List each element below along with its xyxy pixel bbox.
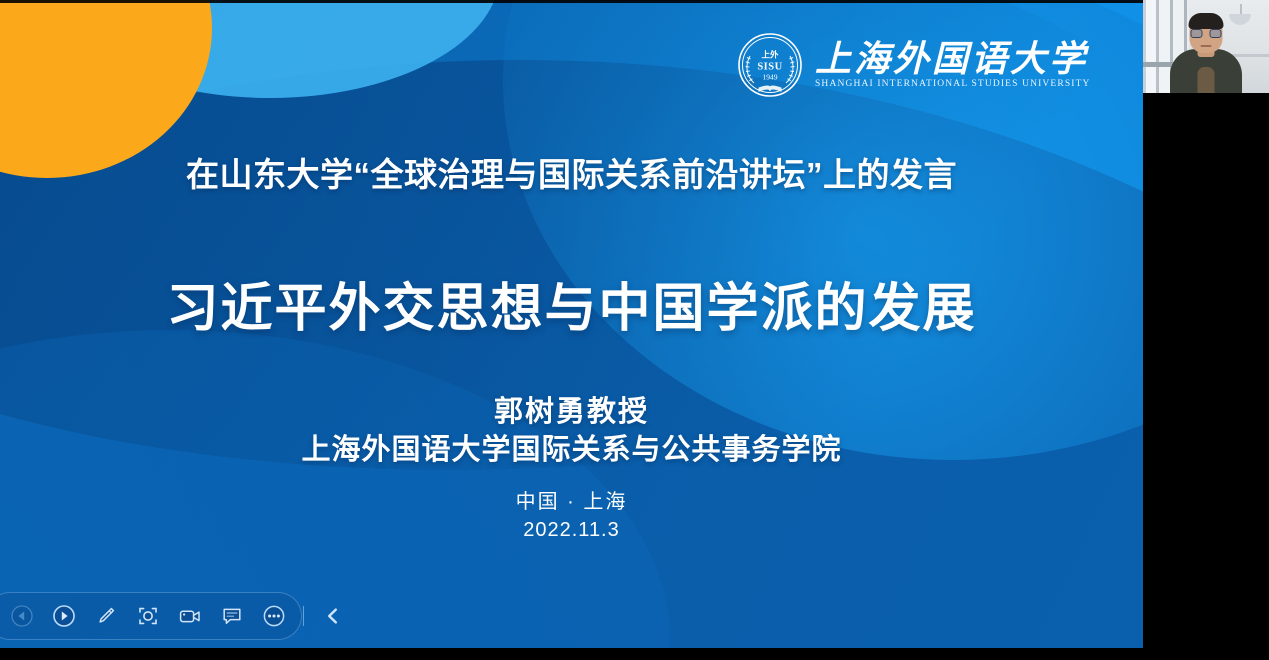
webcam-person-glasses [1191,28,1222,37]
webcam-person-mouth [1201,45,1212,47]
webcam-glasses-lens-left [1191,29,1203,38]
university-logo-text: 上海外国语大学 SHANGHAI INTERNATIONAL STUDIES U… [815,41,1091,89]
bottom-letterbox [0,648,1143,660]
next-slide-button[interactable] [49,601,79,631]
presentation-toolbar[interactable] [0,592,302,640]
presenter-webcam-thumbnail[interactable] [1143,0,1269,93]
webcam-glasses-lens-right [1210,29,1222,38]
annotate-pencil-button[interactable] [91,601,121,631]
svg-text:1949: 1949 [763,73,778,82]
toolbar-divider [303,606,304,626]
more-options-button[interactable] [259,601,289,631]
university-seal-icon: 上外 SISU 1949 [737,32,803,98]
slide-subtitle: 在山东大学“全球治理与国际关系前沿讲坛”上的发言 [0,148,1143,196]
screen-share-window: 上外 SISU 1949 上海外国语大学 SHANGHAI INTERNATIO… [0,0,1269,660]
webcam-person-shirt [1198,67,1215,93]
webcam-person-hair [1189,13,1224,29]
camera-button[interactable] [175,601,205,631]
presentation-slide[interactable]: 上外 SISU 1949 上海外国语大学 SHANGHAI INTERNATIO… [0,0,1143,648]
spotlight-button[interactable] [133,601,163,631]
presenter-block: 郭树勇教授 上海外国语大学国际关系与公共事务学院 [0,393,1143,470]
presenter-name: 郭树勇教授 [0,393,1143,431]
slide-date: 2022.11.3 [0,519,1143,542]
slide-place: 中国 · 上海 [0,485,1143,514]
chat-button[interactable] [217,601,247,631]
slide-main-title: 习近平外交思想与中国学派的发展 [0,266,1143,341]
university-name-cn: 上海外国语大学 [815,41,1091,77]
previous-slide-button[interactable] [7,601,37,631]
svg-text:SISU: SISU [757,62,782,73]
svg-text:上外: 上外 [761,50,779,60]
collapse-toolbar-button[interactable] [318,601,348,631]
presenter-affiliation: 上海外国语大学国际关系与公共事务学院 [0,431,1143,469]
slide-top-letterbox [0,0,1143,3]
university-name-en: SHANGHAI INTERNATIONAL STUDIES UNIVERSIT… [815,79,1091,89]
university-logo: 上外 SISU 1949 上海外国语大学 SHANGHAI INTERNATIO… [737,32,1091,98]
right-letterbox [1143,93,1269,660]
